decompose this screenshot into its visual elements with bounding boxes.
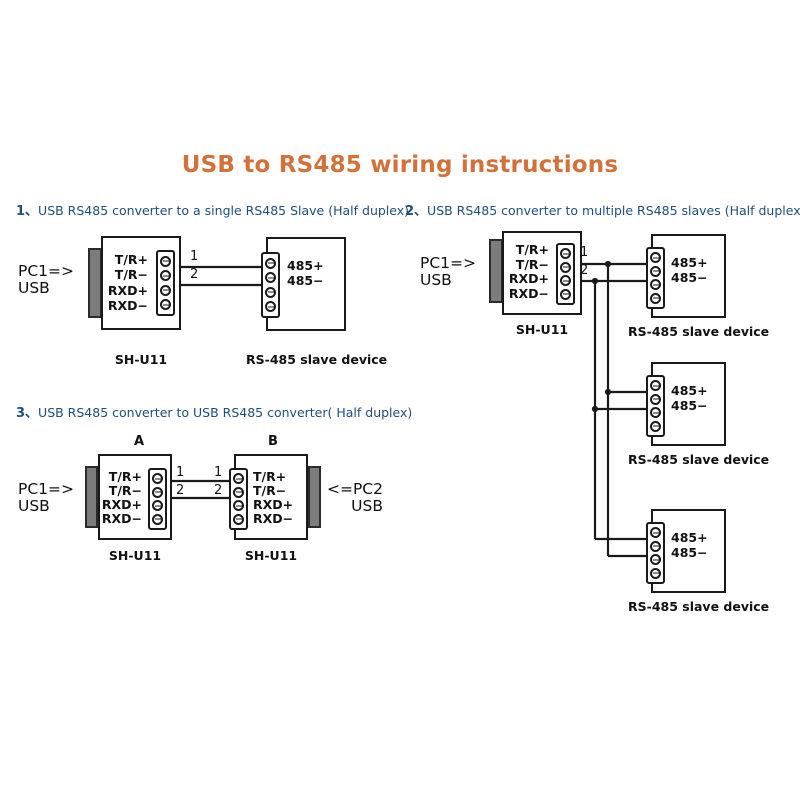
d3-unit-a-usb-connector-tab — [85, 466, 98, 528]
d1-slave-pin-label-0: 485+ — [287, 260, 324, 273]
d2-slave-1-screw-2[interactable] — [650, 279, 661, 290]
d3-pc1-port-label: PC1=> USB — [18, 481, 74, 516]
d2-converter-pin-labels: T/R+ T/R− RXD+ RXD− — [505, 243, 549, 301]
d2-junction-2-middle — [592, 406, 598, 412]
d1-converter-screw-0[interactable] — [160, 256, 171, 267]
d2-converter-screw-1[interactable] — [560, 262, 571, 273]
d3-unit-a-caption: SH-U11 — [98, 548, 172, 563]
d3-a-pin-label-1: T/R− — [109, 485, 142, 498]
d1-pin-label-3: RXD− — [108, 300, 148, 313]
d2-slave-1-screw-0[interactable] — [650, 252, 661, 263]
d1-converter-pin-labels: T/R+ T/R− RXD+ RXD− — [104, 252, 148, 314]
section-number-3: 3、 — [16, 406, 38, 421]
d2-junction-1-middle — [605, 389, 611, 395]
d2-slave-3-terminal-strip[interactable] — [646, 522, 665, 584]
d2-slave-1-pin-labels: 485+ 485− — [671, 256, 721, 286]
d1-converter-terminal-strip[interactable] — [156, 250, 175, 316]
d2-slave-2-screw-2[interactable] — [650, 407, 661, 418]
d2-slave-3-pin-label-0: 485+ — [671, 532, 708, 545]
d2-slave-2-pin-label-0: 485+ — [671, 385, 708, 398]
d2-slave-3-caption: RS-485 slave device — [628, 599, 748, 614]
d2-slave-3-screw-2[interactable] — [650, 554, 661, 565]
d2-slave-3-screw-0[interactable] — [650, 527, 661, 538]
d2-usb-connector-tab — [489, 239, 503, 303]
d2-slave-2-terminal-strip[interactable] — [646, 375, 665, 437]
d2-converter-screw-0[interactable] — [560, 248, 571, 259]
d3-b-screw-0[interactable] — [233, 473, 244, 484]
d2-slave-1-pin-label-1: 485− — [671, 272, 708, 285]
d1-converter-screw-1[interactable] — [160, 270, 171, 281]
d3-unit-b-terminal-strip[interactable] — [229, 468, 248, 530]
d2-slave-1-pin-label-0: 485+ — [671, 257, 708, 270]
d1-pin-label-1: T/R− — [115, 269, 148, 282]
d3-unit-a-terminal-strip[interactable] — [148, 468, 167, 530]
page-title: USB to RS485 wiring instructions — [0, 152, 800, 178]
section-heading-2: 2、USB RS485 converter to multiple RS485 … — [405, 200, 800, 219]
d2-slave-2-screw-3[interactable] — [650, 421, 661, 432]
d1-wire-number-2: 2 — [190, 268, 198, 281]
d3-b-pin-label-3: RXD− — [253, 513, 293, 526]
d2-pin-label-3: RXD− — [509, 288, 549, 301]
d3-pc1-name: PC1=> — [18, 481, 74, 498]
d2-pc-port-label: PC1=> USB — [420, 255, 476, 290]
d1-slave-screw-2[interactable] — [265, 287, 276, 298]
d2-converter-caption: SH-U11 — [502, 322, 582, 337]
d1-slave-screw-1[interactable] — [265, 272, 276, 283]
d1-slave-pin-labels: 485+ 485− — [287, 259, 337, 289]
d2-converter-terminal-strip[interactable] — [556, 243, 575, 305]
d2-slave-2-caption: RS-485 slave device — [628, 452, 748, 467]
d3-b-screw-2[interactable] — [233, 500, 244, 511]
d3-unit-b-caption: SH-U11 — [234, 548, 308, 563]
d3-b-pin-label-2: RXD+ — [253, 499, 293, 512]
d3-left-wire-number-2: 2 — [176, 484, 184, 497]
d3-a-pin-label-0: T/R+ — [109, 471, 142, 484]
d2-slave-2-pin-label-1: 485− — [671, 400, 708, 413]
d3-left-wire-number-1: 1 — [176, 466, 184, 479]
d2-pin-label-2: RXD+ — [509, 273, 549, 286]
d3-pc2-port-label: <=PC2 USB — [311, 481, 383, 516]
d3-unit-a-tag: A — [134, 434, 144, 449]
d1-pc-bus: USB — [18, 280, 74, 297]
d2-pin-label-1: T/R− — [516, 259, 549, 272]
d2-slave-2-screw-1[interactable] — [650, 394, 661, 405]
d3-unit-a-pin-labels: T/R+ T/R− RXD+ RXD− — [100, 470, 142, 526]
d2-pin-label-0: T/R+ — [516, 244, 549, 257]
d2-slave-1-terminal-strip[interactable] — [646, 247, 665, 309]
d3-a-screw-0[interactable] — [152, 473, 163, 484]
section-number-1: 1、 — [16, 204, 38, 219]
d1-pin-label-0: T/R+ — [115, 254, 148, 267]
d2-slave-1-caption: RS-485 slave device — [628, 324, 748, 339]
d2-wire-number-2: 2 — [580, 264, 588, 277]
d3-a-screw-2[interactable] — [152, 500, 163, 511]
section-heading-3: 3、USB RS485 converter to USB RS485 conve… — [16, 402, 412, 421]
d1-converter-screw-2[interactable] — [160, 285, 171, 296]
d2-junction-2-top — [592, 278, 598, 284]
d3-a-pin-label-3: RXD− — [102, 513, 142, 526]
d1-converter-screw-3[interactable] — [160, 299, 171, 310]
d3-pc1-bus: USB — [18, 498, 74, 515]
section-text-2: USB RS485 converter to multiple RS485 sl… — [427, 203, 800, 218]
d3-a-pin-label-2: RXD+ — [102, 499, 142, 512]
d1-slave-screw-3[interactable] — [265, 301, 276, 312]
section-number-2: 2、 — [405, 204, 427, 219]
d1-slave-screw-0[interactable] — [265, 258, 276, 269]
d3-a-screw-1[interactable] — [152, 487, 163, 498]
d1-converter-caption: SH-U11 — [101, 352, 181, 367]
d2-slave-2-pin-labels: 485+ 485− — [671, 384, 721, 414]
d2-slave-1-screw-1[interactable] — [650, 266, 661, 277]
d3-b-screw-3[interactable] — [233, 514, 244, 525]
d3-b-screw-1[interactable] — [233, 487, 244, 498]
d2-converter-screw-2[interactable] — [560, 275, 571, 286]
d2-wire-number-1: 1 — [580, 246, 588, 259]
d3-a-screw-3[interactable] — [152, 514, 163, 525]
d1-usb-connector-tab — [88, 248, 102, 318]
d3-right-wire-number-2: 2 — [214, 484, 222, 497]
section-heading-1: 1、USB RS485 converter to a single RS485 … — [16, 200, 409, 219]
d3-b-pin-label-1: T/R− — [253, 485, 286, 498]
d1-slave-terminal-strip[interactable] — [261, 252, 280, 318]
d2-converter-screw-3[interactable] — [560, 289, 571, 300]
section-text-1: USB RS485 converter to a single RS485 Sl… — [38, 203, 409, 218]
d2-pc-bus: USB — [420, 272, 476, 289]
d1-pc-name: PC1=> — [18, 263, 74, 280]
d3-pc2-name: <=PC2 — [311, 481, 383, 498]
d3-pc2-bus: USB — [311, 498, 383, 515]
diagram-canvas: USB to RS485 wiring instructions 1、USB R… — [0, 0, 800, 800]
d2-slave-1-screw-3[interactable] — [650, 293, 661, 304]
d3-right-wire-number-1: 1 — [214, 466, 222, 479]
section-text-3: USB RS485 converter to USB RS485 convert… — [38, 405, 412, 420]
d1-slave-caption: RS-485 slave device — [246, 352, 366, 367]
d1-slave-pin-label-1: 485− — [287, 275, 324, 288]
d2-pc-name: PC1=> — [420, 255, 476, 272]
d3-unit-b-tag: B — [268, 434, 278, 449]
d2-junction-1-top — [605, 261, 611, 267]
d2-slave-3-pin-label-1: 485− — [671, 547, 708, 560]
d3-unit-b-pin-labels: T/R+ T/R− RXD+ RXD− — [253, 470, 299, 526]
d1-pin-label-2: RXD+ — [108, 285, 148, 298]
d1-pc-port-label: PC1=> USB — [18, 263, 74, 298]
d2-slave-3-screw-1[interactable] — [650, 541, 661, 552]
d2-slave-3-screw-3[interactable] — [650, 568, 661, 579]
d1-wire-number-1: 1 — [190, 250, 198, 263]
d2-slave-3-pin-labels: 485+ 485− — [671, 531, 721, 561]
d2-slave-2-screw-0[interactable] — [650, 380, 661, 391]
d3-b-pin-label-0: T/R+ — [253, 471, 286, 484]
